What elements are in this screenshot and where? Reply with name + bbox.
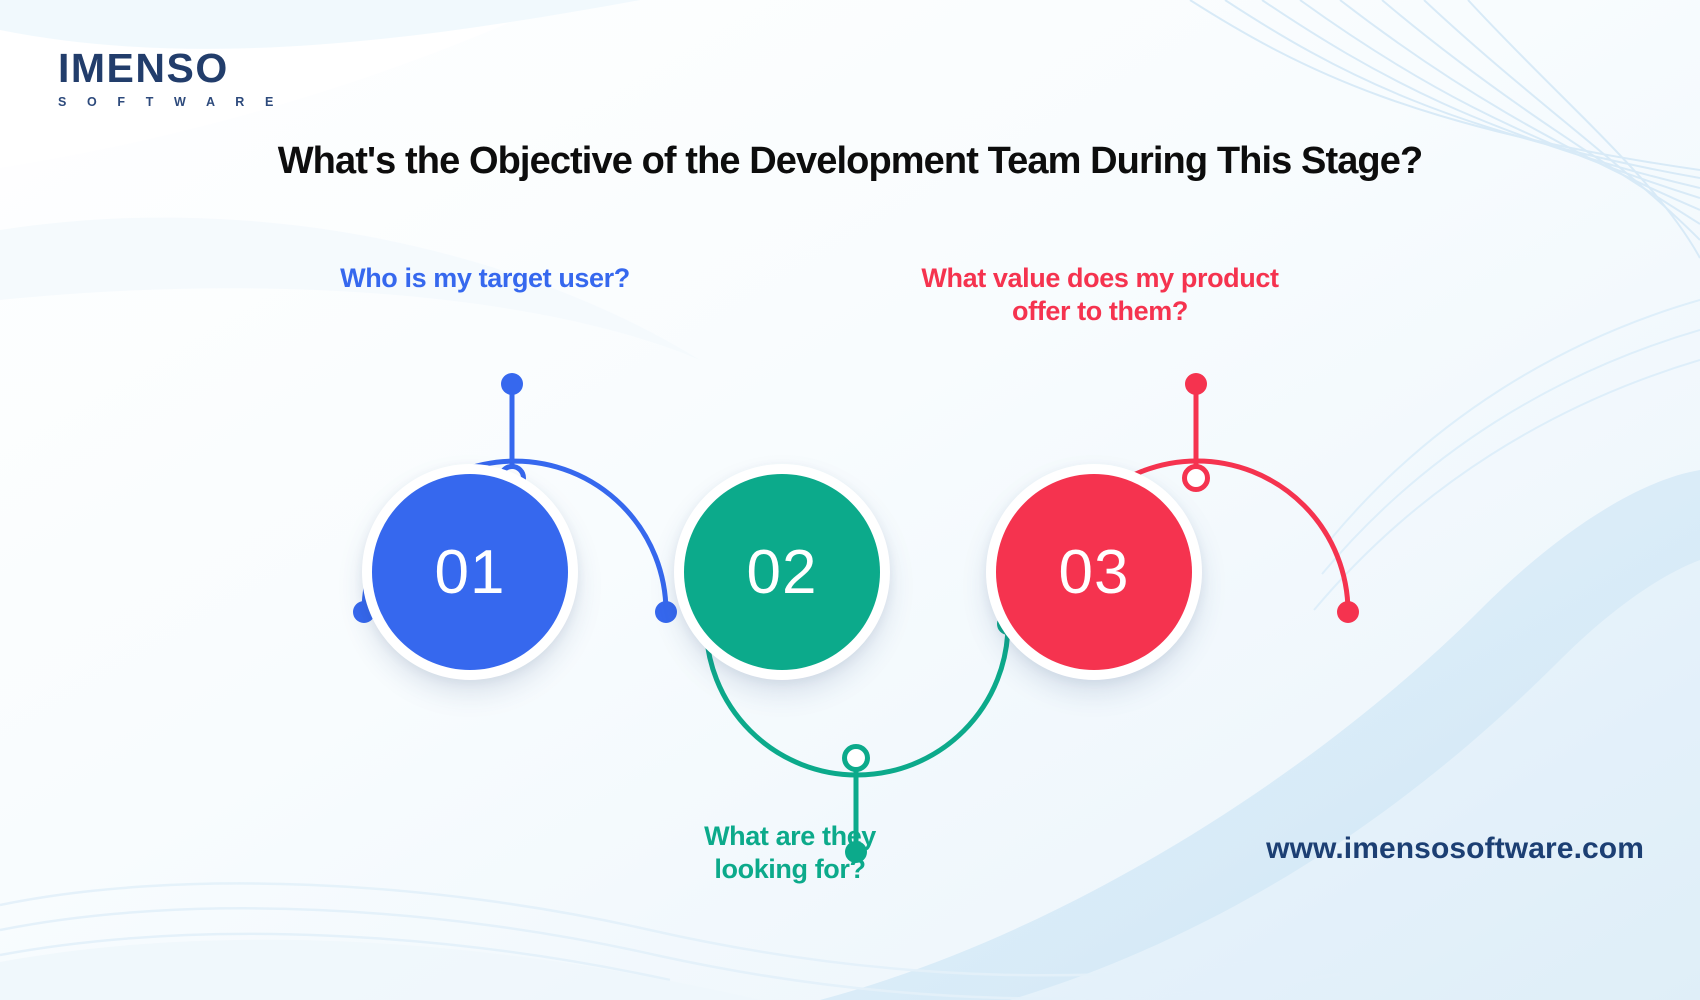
step-label-01: Who is my target user? bbox=[245, 262, 725, 295]
step-number-02: 02 bbox=[684, 474, 880, 670]
step-label-03: What value does my product offer to them… bbox=[880, 262, 1320, 328]
website-url[interactable]: www.imensosoftware.com bbox=[1266, 832, 1644, 866]
step-label-02-line1: What are they bbox=[630, 820, 950, 853]
step-label-03-line2: offer to them? bbox=[880, 295, 1320, 328]
step-label-02-line2: looking for? bbox=[630, 853, 950, 886]
infographic-slide: IMENSO S O F T W A R E What's the Object… bbox=[0, 0, 1700, 1000]
step-node-01[interactable]: 01 bbox=[362, 464, 578, 680]
step-label-02: What are they looking for? bbox=[630, 820, 950, 886]
step-node-03[interactable]: 03 bbox=[986, 464, 1202, 680]
step-label-03-line1: What value does my product bbox=[880, 262, 1320, 295]
step-number-03: 03 bbox=[996, 474, 1192, 670]
step-label-01-line1: Who is my target user? bbox=[245, 262, 725, 295]
step-number-01: 01 bbox=[372, 474, 568, 670]
step-node-02[interactable]: 02 bbox=[674, 464, 890, 680]
